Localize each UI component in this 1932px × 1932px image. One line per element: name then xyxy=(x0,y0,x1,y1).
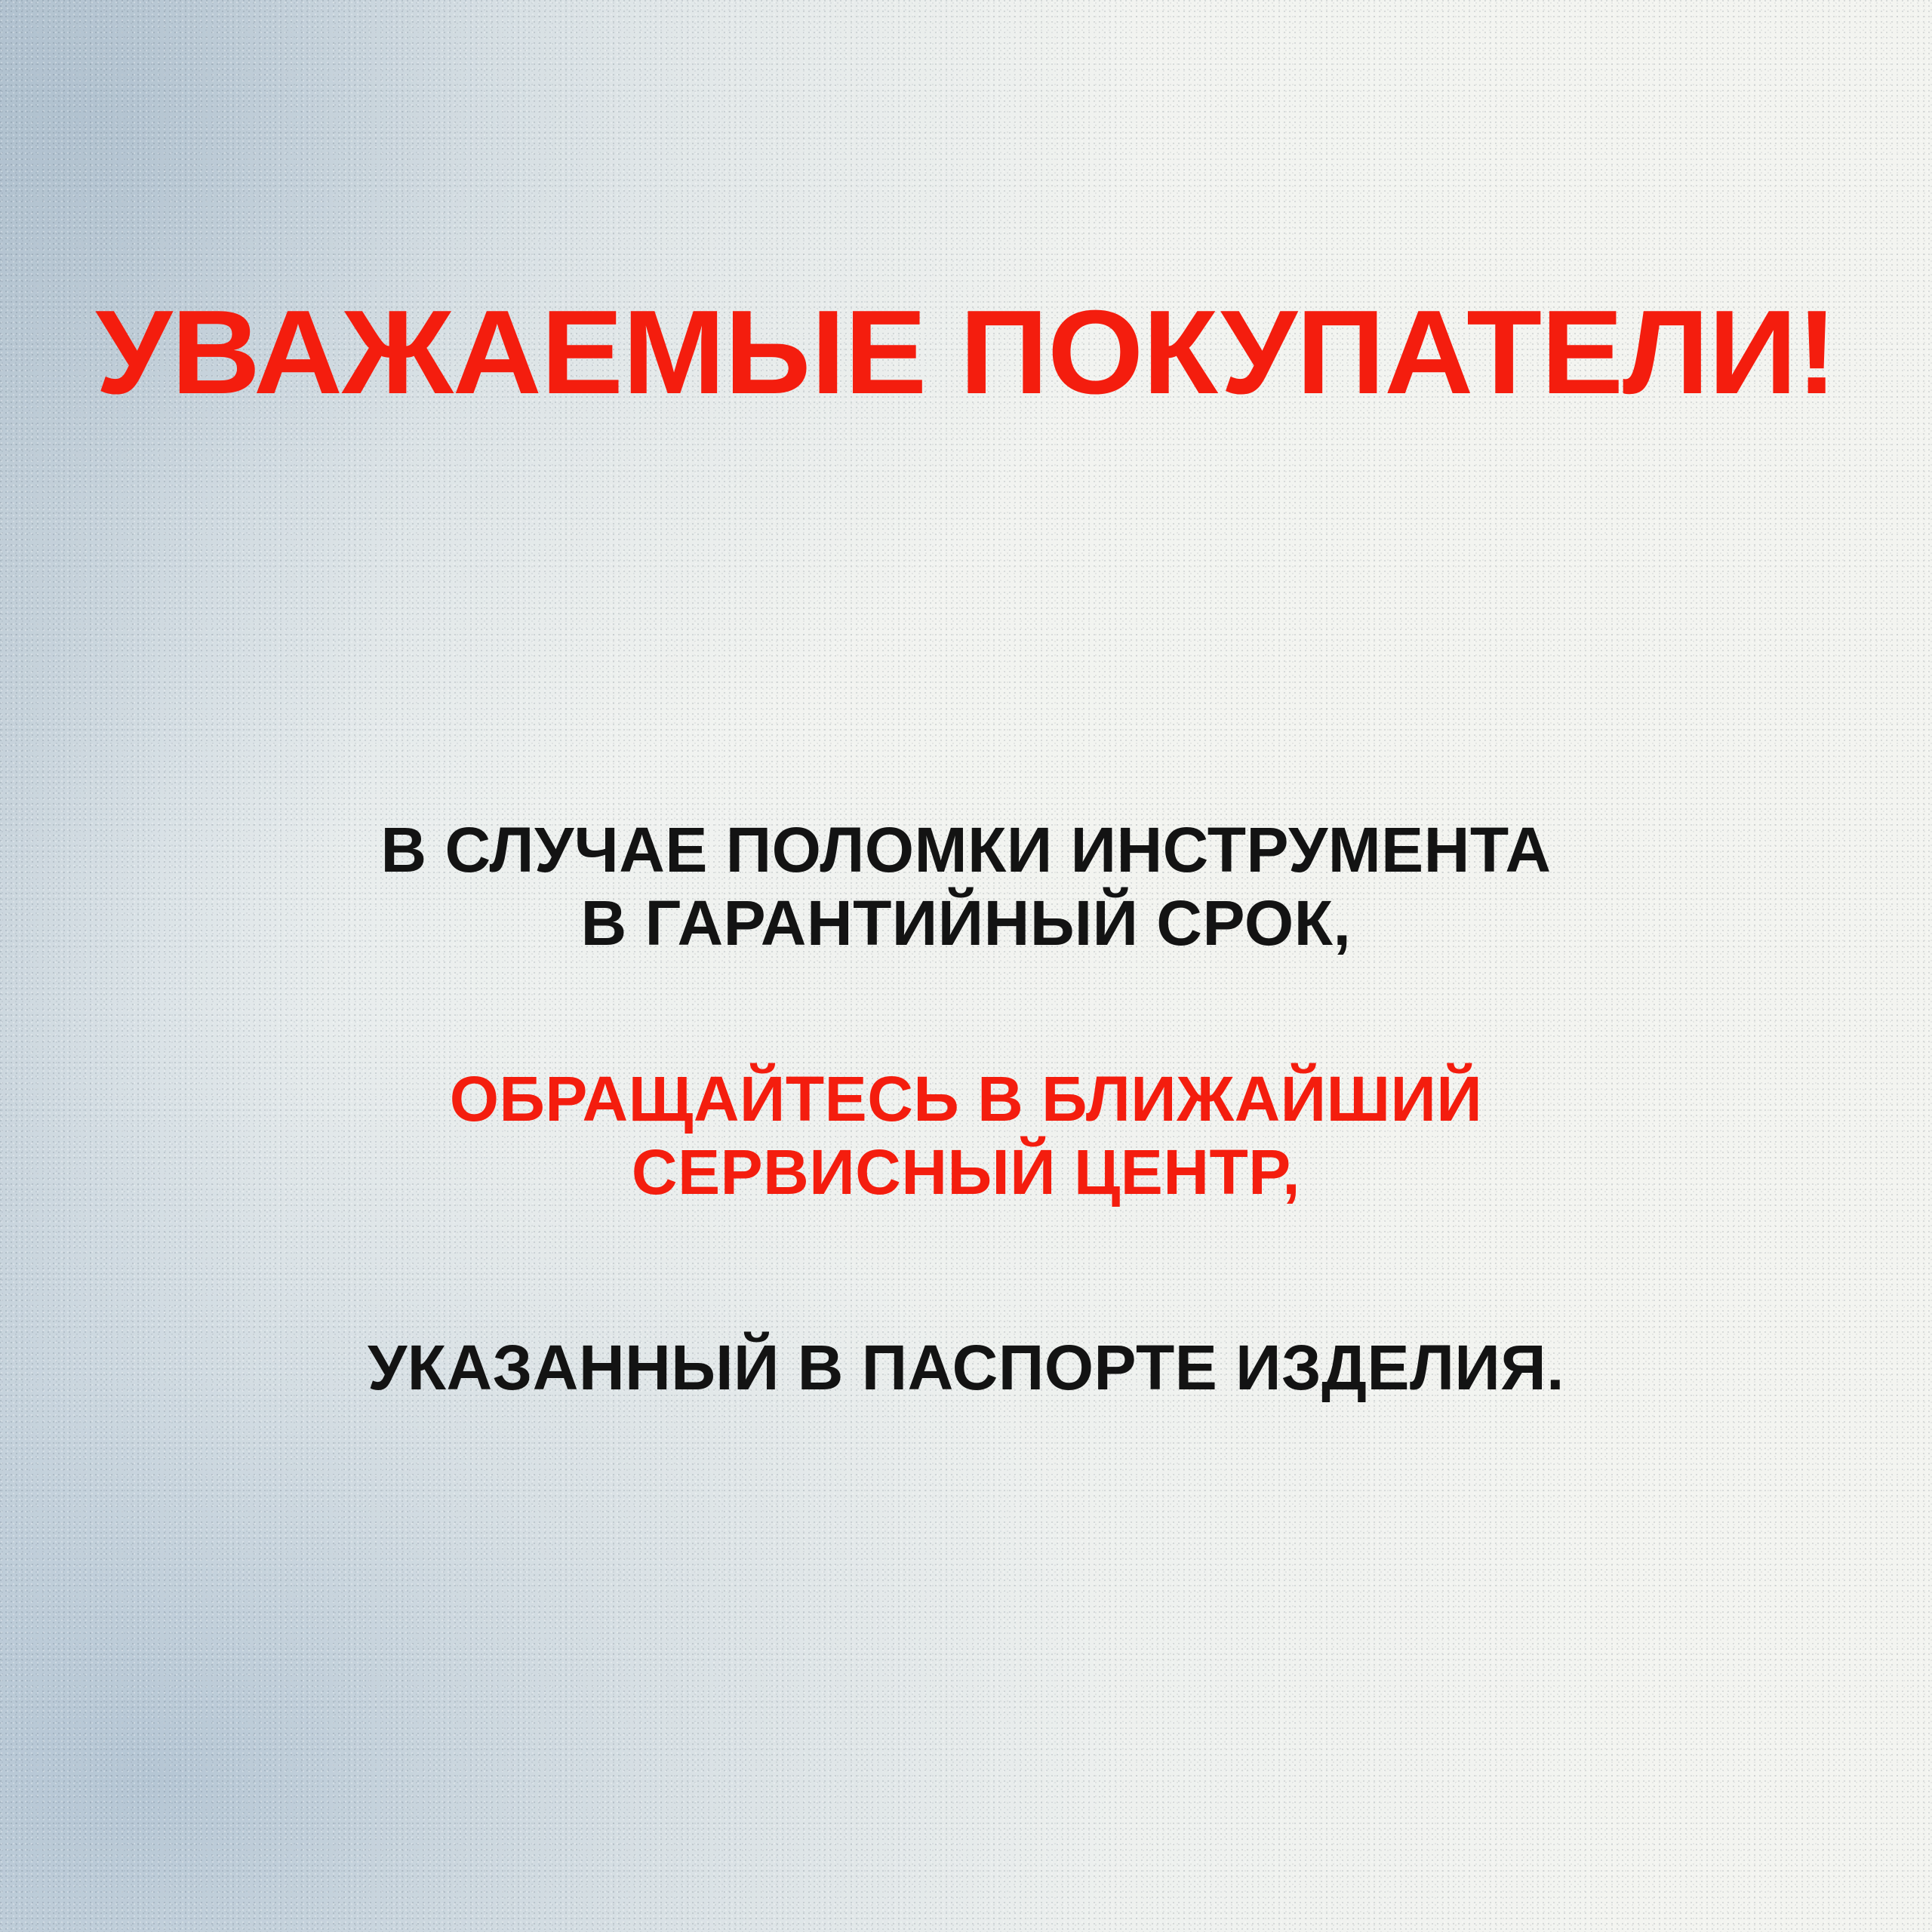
poster-content: УВАЖАЕМЫЕ ПОКУПАТЕЛИ! В СЛУЧАЕ ПОЛОМКИ И… xyxy=(0,0,1932,1932)
warranty-condition-line-2: В ГАРАНТИЙНЫЙ СРОК, xyxy=(0,887,1932,960)
warranty-condition-block: В СЛУЧАЕ ПОЛОМКИ ИНСТРУМЕНТА В ГАРАНТИЙН… xyxy=(0,814,1932,961)
passport-reference-line-1: УКАЗАННЫЙ В ПАСПОРТЕ ИЗДЕЛИЯ. xyxy=(0,1331,1932,1404)
service-center-instruction-line-2: СЕРВИСНЫЙ ЦЕНТР, xyxy=(0,1136,1932,1209)
service-center-instruction-block: ОБРАЩАЙТЕСЬ В БЛИЖАЙШИЙ СЕРВИСНЫЙ ЦЕНТР, xyxy=(0,1063,1932,1210)
page-title: УВАЖАЕМЫЕ ПОКУПАТЕЛИ! xyxy=(0,293,1932,412)
service-center-instruction-line-1: ОБРАЩАЙТЕСЬ В БЛИЖАЙШИЙ xyxy=(0,1063,1932,1136)
warranty-condition-line-1: В СЛУЧАЕ ПОЛОМКИ ИНСТРУМЕНТА xyxy=(0,814,1932,887)
passport-reference-block: УКАЗАННЫЙ В ПАСПОРТЕ ИЗДЕЛИЯ. xyxy=(0,1331,1932,1404)
announcement-poster: УВАЖАЕМЫЕ ПОКУПАТЕЛИ! В СЛУЧАЕ ПОЛОМКИ И… xyxy=(0,0,1932,1932)
